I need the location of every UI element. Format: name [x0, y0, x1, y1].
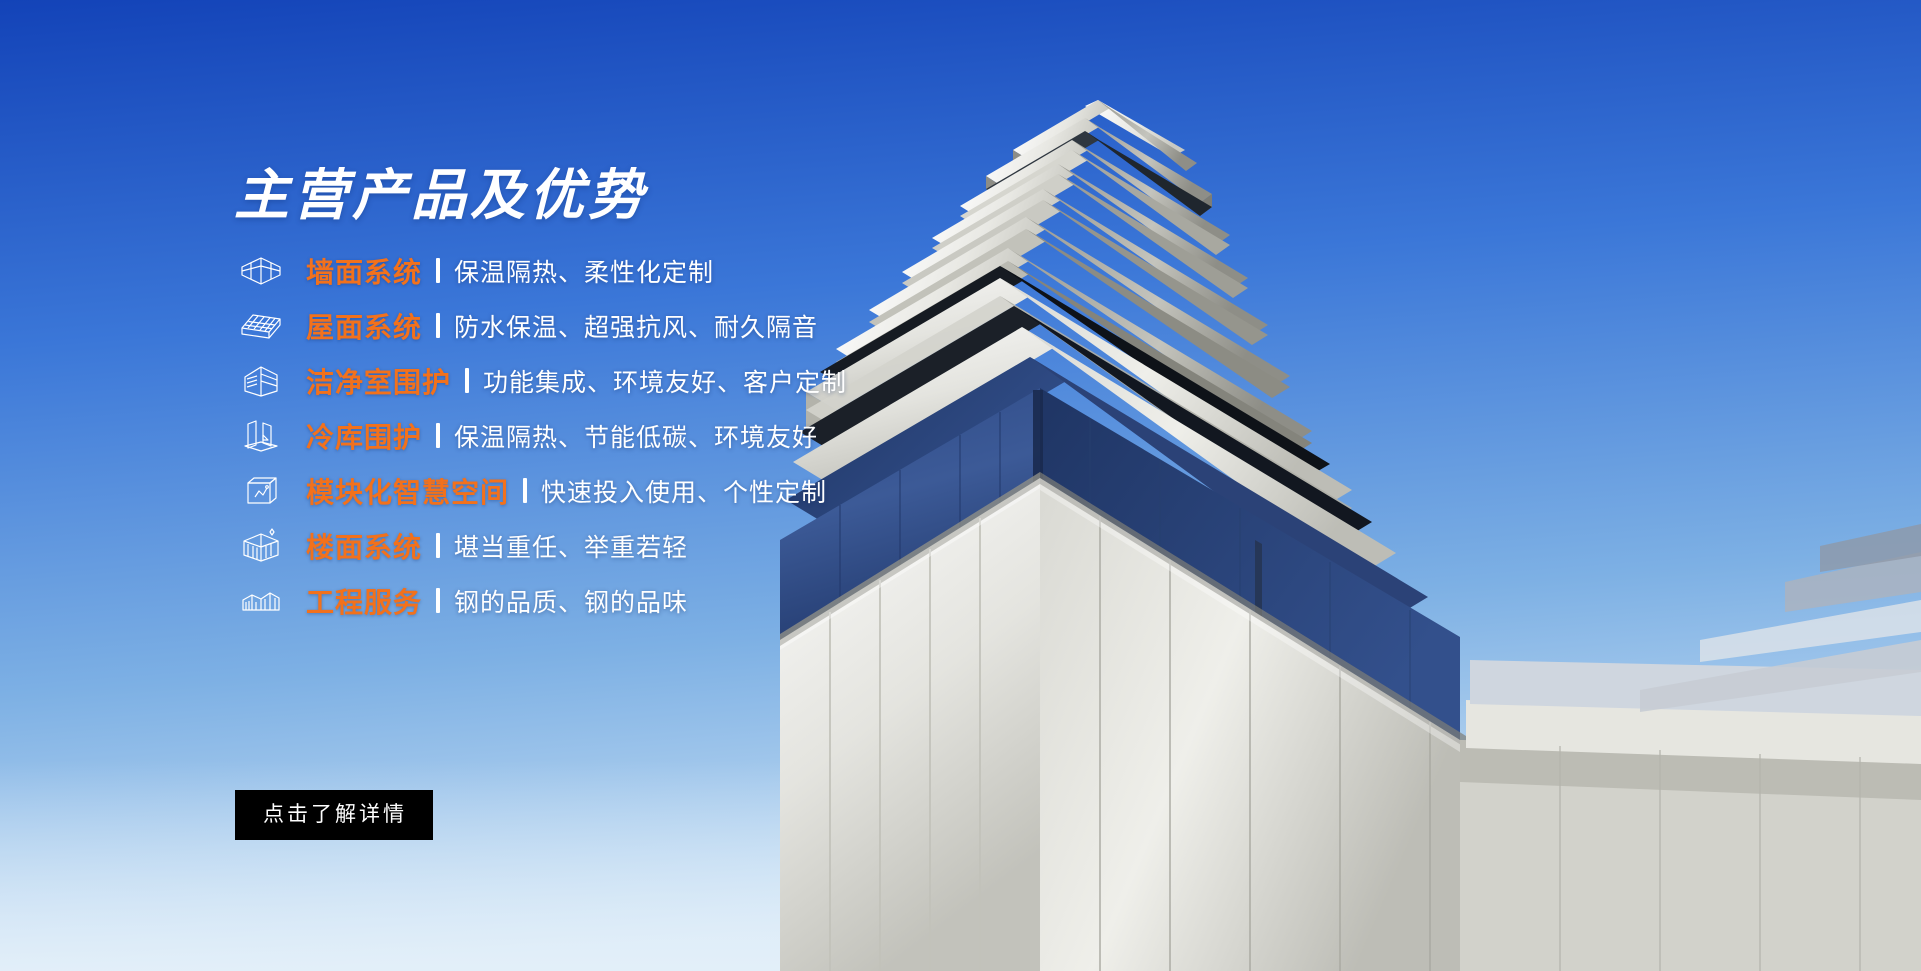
cleanroom-building-icon [232, 361, 290, 401]
cold-storage-icon [232, 416, 290, 456]
product-list: 墙面系统 保温隔热、柔性化定制 屋面系统 防水保温、超强抗风、 [232, 243, 1172, 628]
wall-panel-icon [232, 251, 290, 291]
separator-bar [436, 423, 440, 448]
page-title: 主营产品及优势 [234, 168, 647, 223]
separator-bar [436, 313, 440, 338]
separator-bar [523, 478, 527, 503]
product-description: 功能集成、环境友好、客户定制 [483, 363, 847, 399]
list-item[interactable]: 工程服务 钢的品质、钢的品味 [232, 573, 1172, 628]
list-item[interactable]: 冷库围护 保温隔热、节能低碳、环境友好 [232, 408, 1172, 463]
separator-bar [436, 258, 440, 283]
product-category: 模块化智慧空间 [306, 471, 509, 511]
floor-system-icon [232, 526, 290, 566]
list-item[interactable]: 楼面系统 堪当重任、举重若轻 [232, 518, 1172, 573]
product-category: 墙面系统 [306, 251, 422, 291]
list-item[interactable]: 屋面系统 防水保温、超强抗风、耐久隔音 [232, 298, 1172, 353]
engineering-service-icon [232, 581, 290, 621]
list-item[interactable]: 模块化智慧空间 快速投入使用、个性定制 [232, 463, 1172, 518]
list-item[interactable]: 洁净室围护 功能集成、环境友好、客户定制 [232, 353, 1172, 408]
product-description: 防水保温、超强抗风、耐久隔音 [454, 308, 818, 344]
product-category: 楼面系统 [306, 526, 422, 566]
banner-content: 主营产品及优势 墙面系统 保温隔热、柔性化定制 [232, 0, 1182, 971]
product-description: 保温隔热、柔性化定制 [454, 253, 714, 289]
product-category: 工程服务 [306, 581, 422, 621]
product-category: 冷库围护 [306, 416, 422, 456]
product-category: 屋面系统 [306, 306, 422, 346]
product-description: 保温隔热、节能低碳、环境友好 [454, 418, 818, 454]
roof-panel-icon [232, 306, 290, 346]
separator-bar [436, 533, 440, 558]
separator-bar [436, 588, 440, 613]
list-item[interactable]: 墙面系统 保温隔热、柔性化定制 [232, 243, 1172, 298]
hero-banner: 主营产品及优势 墙面系统 保温隔热、柔性化定制 [0, 0, 1921, 971]
product-category: 洁净室围护 [306, 361, 451, 401]
separator-bar [465, 368, 469, 393]
product-description: 钢的品质、钢的品味 [454, 583, 688, 619]
product-description: 堪当重任、举重若轻 [454, 528, 688, 564]
product-description: 快速投入使用、个性定制 [541, 473, 827, 509]
learn-more-button[interactable]: 点击了解详情 [235, 790, 433, 840]
modular-cube-icon [232, 471, 290, 511]
